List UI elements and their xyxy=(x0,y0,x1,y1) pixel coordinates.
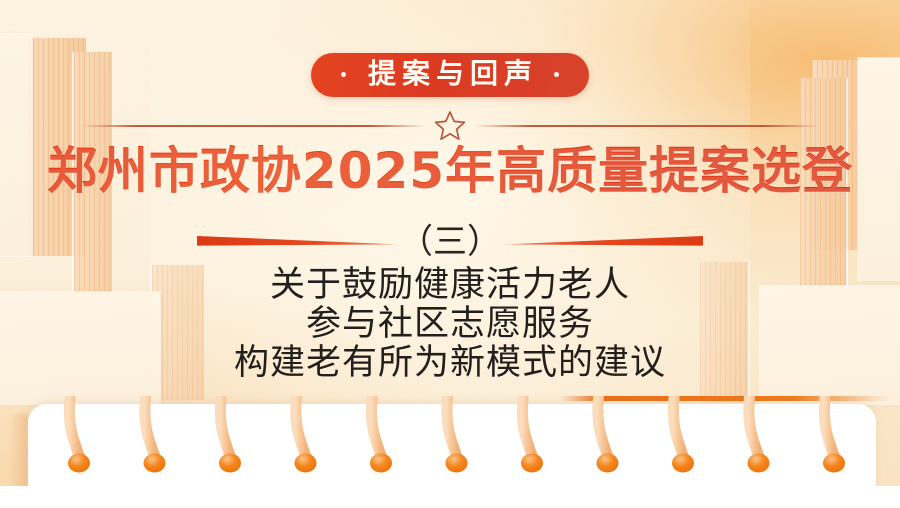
proposal-line-3: 构建老有所为新模式的建议 xyxy=(0,344,900,383)
poster-upper-section: 提案与回声 郑州市政协2025年高质量提案选登 xyxy=(0,0,900,404)
binding-ring-stroke xyxy=(522,398,533,458)
binding-ring-stroke xyxy=(69,398,80,458)
proposal-title: 关于鼓励健康活力老人 参与社区志愿服务 构建老有所为新模式的建议 xyxy=(0,266,900,383)
page-title: 郑州市政协2025年高质量提案选登 xyxy=(0,143,900,199)
footer-white-strip xyxy=(0,486,900,508)
proposal-line-2: 参与社区志愿服务 xyxy=(0,305,900,344)
binding-ring-tip xyxy=(672,454,694,473)
binding-ring-tip xyxy=(68,454,90,473)
divider-rule-left xyxy=(81,125,425,127)
binding-ring-stroke xyxy=(296,398,307,458)
poster-canvas: 提案与回声 郑州市政协2025年高质量提案选登 xyxy=(0,0,900,508)
proposal-line-1: 关于鼓励健康活力老人 xyxy=(0,266,900,305)
binding-ring-stroke xyxy=(145,398,156,458)
binding-ring-tip xyxy=(748,454,770,473)
binding-ring-stroke xyxy=(447,398,458,458)
binding-ring-stroke xyxy=(749,398,760,458)
binding-ring-tip xyxy=(219,454,241,473)
binding-ring-tip xyxy=(521,454,543,473)
binding-ring-tip xyxy=(370,454,392,473)
binding-ring-stroke xyxy=(598,398,609,458)
section-number-row: （三） xyxy=(0,218,900,266)
wedge-right-icon xyxy=(503,231,703,253)
binding-ring-tip xyxy=(597,454,619,473)
divider-rule-right xyxy=(475,125,819,127)
section-badge: 提案与回声 xyxy=(311,53,589,97)
binding-ring-stroke xyxy=(673,398,684,458)
binding-ring-tip xyxy=(295,454,317,473)
binding-ring-stroke xyxy=(220,398,231,458)
binding-ring-tip xyxy=(446,454,468,473)
badge-dot-left-icon xyxy=(341,72,346,77)
wedge-left-icon xyxy=(197,231,397,253)
star-icon xyxy=(433,109,467,141)
binding-ring-tip xyxy=(823,454,845,473)
binding-ring-stroke xyxy=(824,398,835,458)
binding-ring-tip xyxy=(144,454,166,473)
section-number: （三） xyxy=(397,225,503,259)
binding-ring-stroke xyxy=(371,398,382,458)
badge-label: 提案与回声 xyxy=(362,60,538,88)
badge-dot-right-icon xyxy=(554,72,559,77)
star-divider xyxy=(81,108,819,142)
